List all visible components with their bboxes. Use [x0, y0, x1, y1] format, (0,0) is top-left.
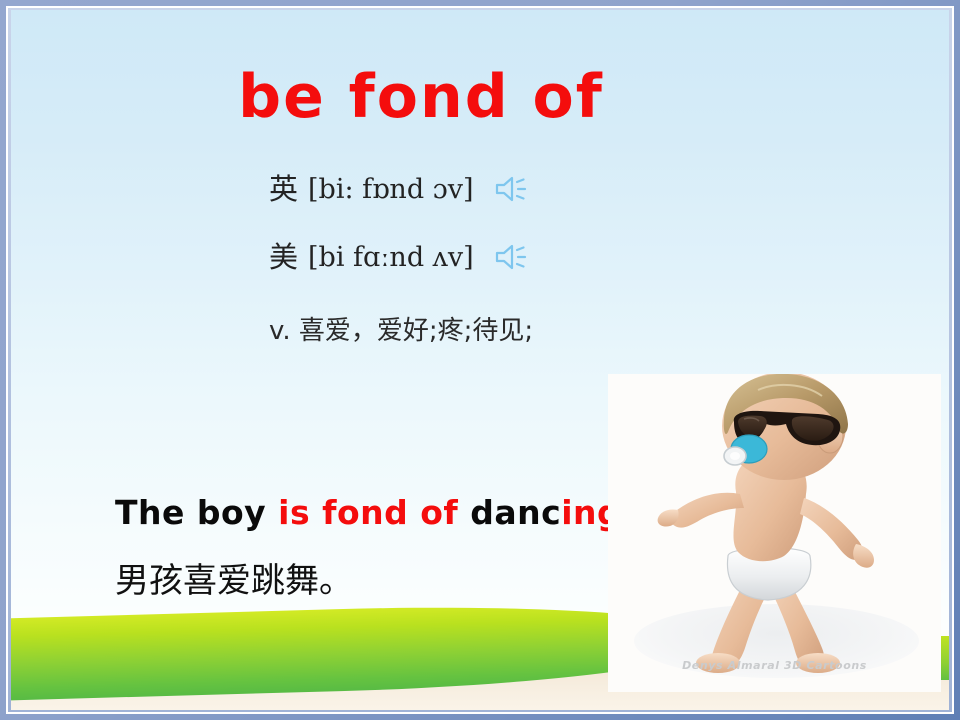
- slide-root: be fond of 英 [bi: fɒnd ɔv] 美 [bi fɑːnd ʌ…: [0, 0, 960, 720]
- pronunciation-ipa-british: [bi: fɒnd ɔv]: [308, 176, 474, 203]
- pacifier-ring-hole: [730, 452, 740, 460]
- pronunciation-lang-label-british: 英: [269, 175, 298, 204]
- baby-left-arm: [671, 493, 744, 528]
- speaker-icon[interactable]: [494, 242, 528, 272]
- pronunciation-row-british: 英 [bi: fɒnd ɔv]: [269, 166, 689, 212]
- illustration-watermark: Denys Almaral 3D Cartoons: [608, 659, 941, 672]
- pronunciation-row-american: 美 [bi fɑːnd ʌv]: [269, 234, 689, 280]
- pronunciation-block: 英 [bi: fɒnd ɔv] 美 [bi fɑːnd ʌv]: [269, 166, 689, 302]
- speaker-icon[interactable]: [494, 174, 528, 204]
- example-translation: 男孩喜爱跳舞。: [115, 553, 353, 602]
- baby-right-hand: [853, 544, 874, 568]
- slide-canvas: be fond of 英 [bi: fɒnd ɔv] 美 [bi fɑːnd ʌ…: [11, 10, 949, 710]
- example-sentence: The boy is fond of dancing.: [115, 493, 634, 532]
- pronunciation-lang-label-american: 美: [269, 243, 298, 272]
- example-sentence-part-3: danc: [470, 493, 561, 532]
- page-title: be fond of: [11, 66, 831, 129]
- dancing-baby-illustration: [608, 374, 941, 692]
- example-sentence-part-1: The boy: [115, 493, 278, 532]
- example-sentence-highlight-phrase: is fond of: [278, 493, 470, 532]
- pronunciation-ipa-american: [bi fɑːnd ʌv]: [308, 244, 474, 271]
- illustration-card: Denys Almaral 3D Cartoons: [608, 374, 941, 692]
- definition-text: v. 喜爱，爱好;疼;待见;: [269, 310, 533, 347]
